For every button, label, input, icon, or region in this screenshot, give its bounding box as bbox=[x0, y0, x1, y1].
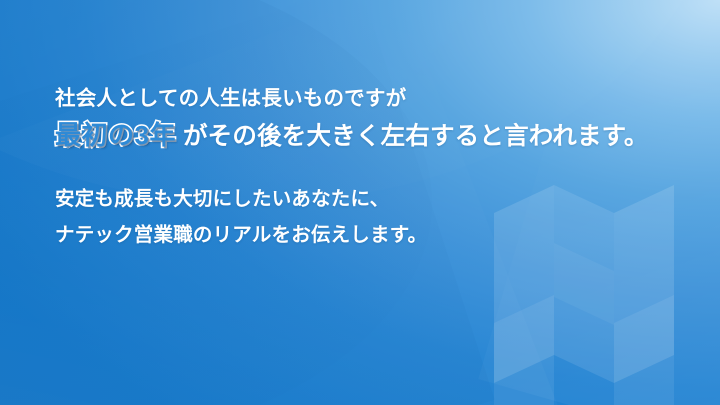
emphasis-text: 最初の3年 bbox=[55, 119, 176, 152]
headline-line-2-rest: がその後を大きく左右すると言われます。 bbox=[183, 122, 649, 153]
slide-canvas: 社会人としての人生は長いものですが 最初の3年 がその後を大きく左右すると言われ… bbox=[0, 0, 720, 405]
subcopy-line-2: ナテック営業職のリアルをお伝えします。 bbox=[55, 223, 675, 248]
paragraph-one: 社会人としての人生は長いものですが 最初の3年 がその後を大きく左右すると言われ… bbox=[55, 86, 675, 153]
paragraph-two: 安定も成長も大切にしたいあなたに、 ナテック営業職のリアルをお伝えします。 bbox=[55, 187, 675, 248]
subcopy-line-1: 安定も成長も大切にしたいあなたに、 bbox=[55, 187, 675, 212]
headline-line-1: 社会人としての人生は長いものですが bbox=[55, 86, 675, 112]
headline-line-2: 最初の3年 がその後を大きく左右すると言われます。 bbox=[55, 119, 675, 153]
slide-copy-block: 社会人としての人生は長いものですが 最初の3年 がその後を大きく左右すると言われ… bbox=[55, 86, 675, 248]
